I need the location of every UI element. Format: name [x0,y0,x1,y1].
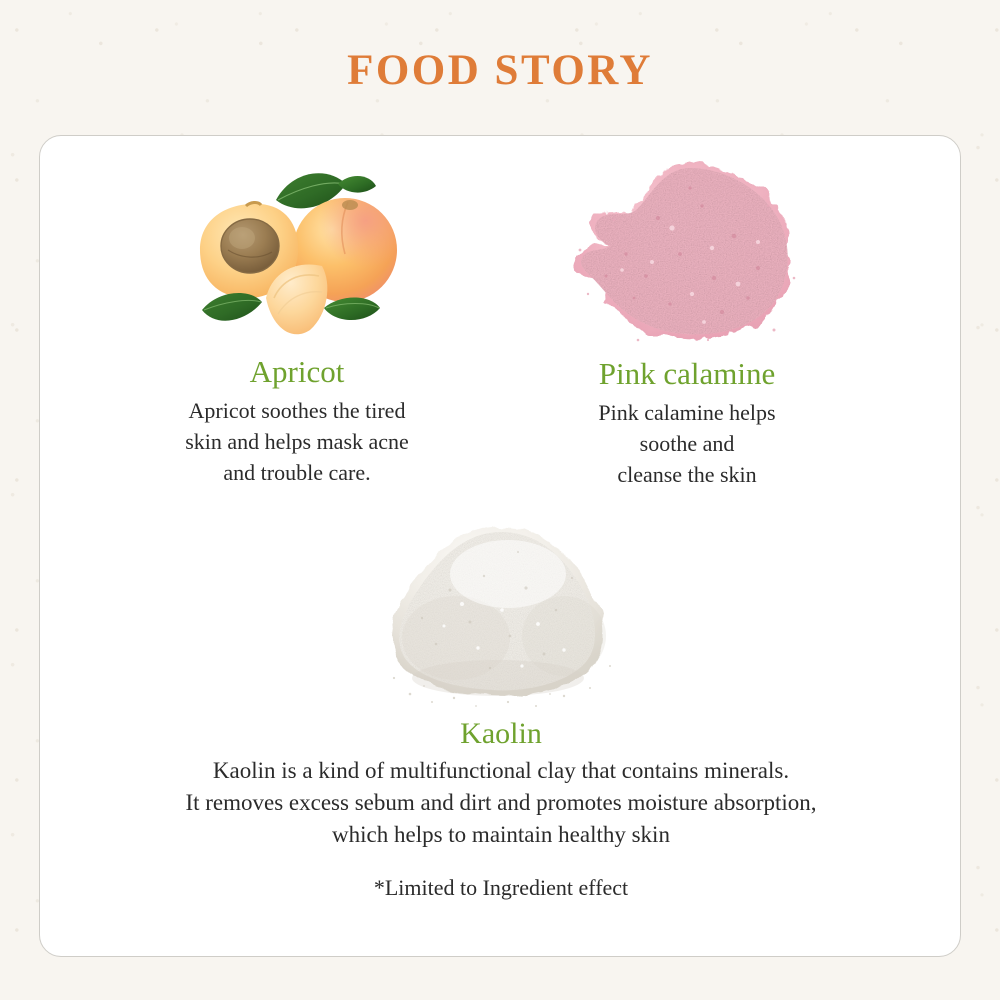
kaolin-powder-photo [358,518,644,714]
ingredient-name-apricot: Apricot [102,354,492,391]
ingredients-card: Apricot Apricot soothes the tired skin a… [39,135,961,957]
ingredient-name-pink-calamine: Pink calamine [492,356,882,393]
ingredient-block-pink-calamine: Pink calamine Pink calamine helps soothe… [492,158,882,490]
food-story-page: FOOD STORY [0,0,1000,1000]
ingredient-block-kaolin: Kaolin Kaolin is a kind of multifunction… [72,518,930,901]
pink-calamine-powder-photo [562,158,812,350]
apricot-photo [188,158,406,348]
footnote-limited-to-ingredient-effect: *Limited to Ingredient effect [72,875,930,901]
ingredient-block-apricot: Apricot Apricot soothes the tired skin a… [102,158,492,488]
ingredient-description-kaolin: Kaolin is a kind of multifunctional clay… [72,755,930,851]
ingredient-description-apricot: Apricot soothes the tired skin and helps… [102,395,492,488]
ingredient-name-kaolin: Kaolin [72,716,930,751]
page-title: FOOD STORY [0,46,1000,95]
ingredient-description-pink-calamine: Pink calamine helps soothe and cleanse t… [492,397,882,490]
